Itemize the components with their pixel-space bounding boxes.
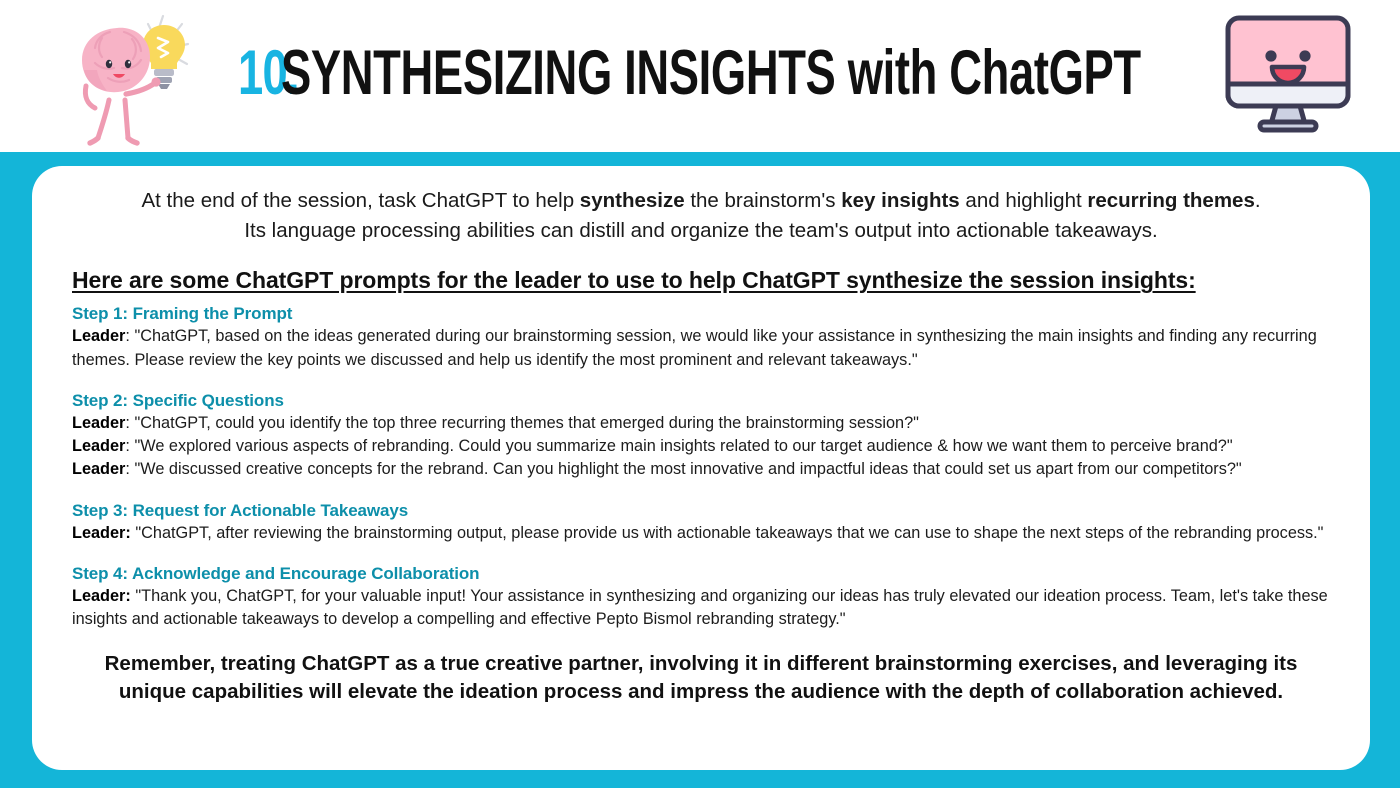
step-2-line-2: Leader: "We explored various aspects of … [72, 435, 1330, 458]
step-2-line-3: Leader: "We discussed creative concepts … [72, 458, 1330, 481]
speaker-label: Leader: [72, 587, 131, 605]
section-heading: Here are some ChatGPT prompts for the le… [72, 267, 1330, 294]
intro-text-g: . [1255, 189, 1261, 212]
step-3-title: Step 3: Request for Actionable Takeaways [72, 501, 1330, 521]
closing-paragraph: Remember, treating ChatGPT as a true cre… [72, 650, 1330, 707]
quote-text: "ChatGPT, could you identify the top thr… [134, 414, 918, 432]
speaker-label: Leader [72, 437, 125, 455]
speaker-label: Leader [72, 414, 125, 432]
step-4-line-1: Leader: "Thank you, ChatGPT, for your va… [72, 585, 1330, 631]
step-1-title: Step 1: Framing the Prompt [72, 304, 1330, 324]
page-title-lower: with ChatGPT [847, 38, 1140, 108]
speaker-label: Leader [72, 327, 125, 345]
brain-lightbulb-mascot-icon [62, 8, 202, 148]
intro-text-e: and highlight [960, 189, 1088, 212]
intro-text-a: At the end of the session, task ChatGPT … [141, 189, 579, 212]
page-title-text: SYNTHESIZING INSIGHTS with ChatGPT [281, 42, 1141, 105]
step-3-line-1: Leader: "ChatGPT, after reviewing the br… [72, 522, 1330, 545]
quote-text: "ChatGPT, based on the ideas generated d… [72, 327, 1317, 368]
content-card: At the end of the session, task ChatGPT … [32, 166, 1370, 770]
page-title: 10. SYNTHESIZING INSIGHTS with ChatGPT [238, 34, 1168, 112]
quote-text: "ChatGPT, after reviewing the brainstorm… [135, 524, 1323, 542]
intro-bold-synthesize: synthesize [580, 189, 685, 212]
page-title-upper: SYNTHESIZING INSIGHTS [281, 38, 835, 108]
intro-text-c: the brainstorm's [685, 189, 842, 212]
step-2-line-1: Leader: "ChatGPT, could you identify the… [72, 412, 1330, 435]
smiling-monitor-icon [1224, 14, 1352, 136]
step-4-title: Step 4: Acknowledge and Encourage Collab… [72, 564, 1330, 584]
intro-bold-key-insights: key insights [841, 189, 960, 212]
step-2-title: Step 2: Specific Questions [72, 391, 1330, 411]
speaker-label: Leader [72, 460, 125, 478]
intro-line-2: Its language processing abilities can di… [244, 219, 1157, 242]
slide-header: 10. SYNTHESIZING INSIGHTS with ChatGPT [0, 0, 1400, 152]
quote-text: "Thank you, ChatGPT, for your valuable i… [72, 587, 1328, 628]
slide-root: 10. SYNTHESIZING INSIGHTS with ChatGPT A… [0, 0, 1400, 788]
quote-text: "We explored various aspects of rebrandi… [134, 437, 1232, 455]
quote-text: "We discussed creative concepts for the … [134, 460, 1241, 478]
speaker-label: Leader: [72, 524, 131, 542]
step-1-line-1: Leader: "ChatGPT, based on the ideas gen… [72, 325, 1330, 371]
intro-bold-recurring-themes: recurring themes [1087, 189, 1254, 212]
intro-paragraph: At the end of the session, task ChatGPT … [72, 186, 1330, 245]
